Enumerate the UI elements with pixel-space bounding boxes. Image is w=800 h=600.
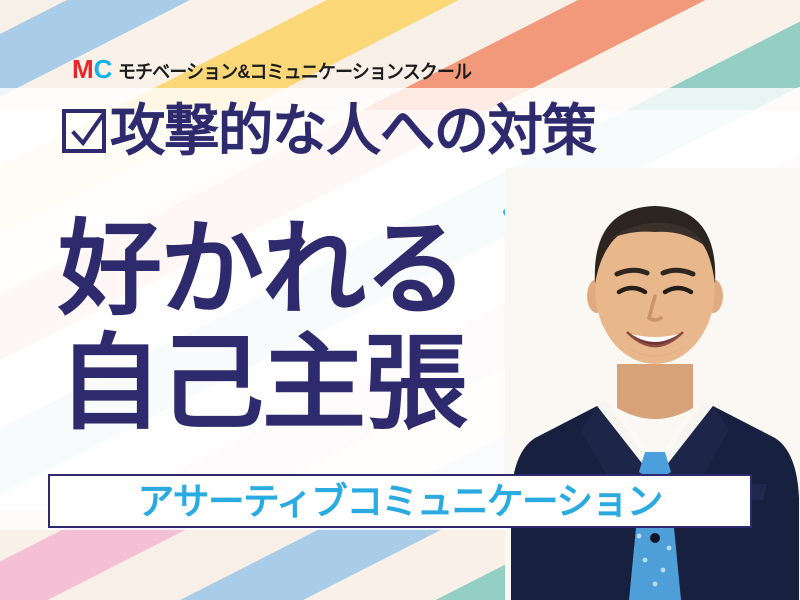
headline: 攻撃的な人への対策 <box>62 103 601 159</box>
main-copy-line-1: 好かれる <box>58 218 466 322</box>
logo-letter-m: M <box>72 54 93 85</box>
main-copy-line-2: 自己主張 <box>58 332 466 436</box>
logo-letter-c: C <box>94 54 112 85</box>
checked-checkbox-icon <box>62 109 106 153</box>
subtitle-banner: アサーティブコミュニケーション <box>48 474 752 528</box>
promo-thumbnail: M C モチベーション&コミュニケーションスクール 攻撃的な人への対策 好かれる… <box>0 0 800 600</box>
brand-name-label: モチベーション&コミュニケーションスクール <box>118 57 471 84</box>
headline-label: 攻撃的な人への対策 <box>110 103 596 159</box>
brand-logo: M C モチベーション&コミュニケーションスクール <box>72 54 494 85</box>
presenter-photo <box>505 168 800 600</box>
subtitle-banner-label: アサーティブコミュニケーション <box>138 483 662 520</box>
